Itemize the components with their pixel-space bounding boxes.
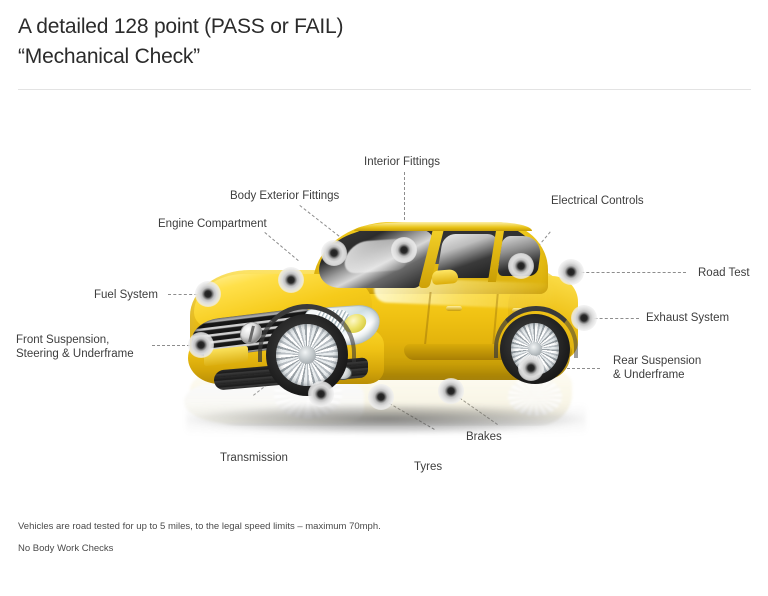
marker-electrical-controls[interactable] — [508, 253, 534, 279]
rear-wheel-hub — [528, 342, 542, 356]
car-front-wheel — [266, 314, 348, 396]
footer-note-body-work: No Body Work Checks — [18, 538, 718, 560]
callout-label-rear-suspension: Rear Suspension & Underframe — [613, 354, 701, 382]
header-divider — [18, 89, 751, 90]
marker-body-exterior-fittings[interactable] — [321, 240, 347, 266]
car-roof-rail — [354, 222, 532, 231]
marker-engine-compartment[interactable] — [278, 267, 304, 293]
footer-note-road-test: Vehicles are road tested for up to 5 mil… — [18, 516, 718, 538]
front-suspension-line-1: Front Suspension, — [16, 333, 134, 347]
marker-exhaust-system[interactable] — [571, 305, 597, 331]
page-title-line-2: “Mechanical Check” — [18, 42, 750, 72]
front-wheel-hub — [298, 346, 316, 364]
page-title-line-1: A detailed 128 point (PASS or FAIL) — [18, 12, 750, 42]
marker-tyres[interactable] — [368, 384, 394, 410]
callout-label-front-suspension: Front Suspension, Steering & Underframe — [16, 333, 134, 361]
rear-suspension-line-1: Rear Suspension — [613, 354, 701, 368]
car-side-mirror — [431, 269, 458, 285]
page-footer: Vehicles are road tested for up to 5 mil… — [18, 516, 718, 560]
callout-label-road-test: Road Test — [698, 266, 750, 280]
marker-front-suspension[interactable] — [188, 332, 214, 358]
callout-label-exhaust-system: Exhaust System — [646, 311, 729, 325]
callout-label-transmission: Transmission — [220, 451, 288, 465]
marker-interior-fittings[interactable] — [391, 237, 417, 263]
callout-label-body-exterior-fittings: Body Exterior Fittings — [230, 189, 339, 203]
front-suspension-line-2: Steering & Underframe — [16, 347, 134, 361]
callout-label-interior-fittings: Interior Fittings — [364, 155, 440, 169]
vehicle-inspection-diagram: Interior Fittings Body Exterior Fittings… — [0, 100, 768, 500]
marker-rear-suspension[interactable] — [518, 355, 544, 381]
marker-fuel-system[interactable] — [195, 281, 221, 307]
callout-label-electrical-controls: Electrical Controls — [551, 194, 644, 208]
marker-brakes[interactable] — [438, 378, 464, 404]
callout-label-fuel-system: Fuel System — [94, 288, 158, 302]
callout-label-tyres: Tyres — [414, 460, 442, 474]
rear-suspension-line-2: & Underframe — [613, 368, 701, 382]
car-front-door-handle — [446, 306, 462, 311]
marker-transmission[interactable] — [308, 381, 334, 407]
marker-road-test[interactable] — [558, 259, 584, 285]
page-header: A detailed 128 point (PASS or FAIL) “Mec… — [18, 12, 750, 72]
